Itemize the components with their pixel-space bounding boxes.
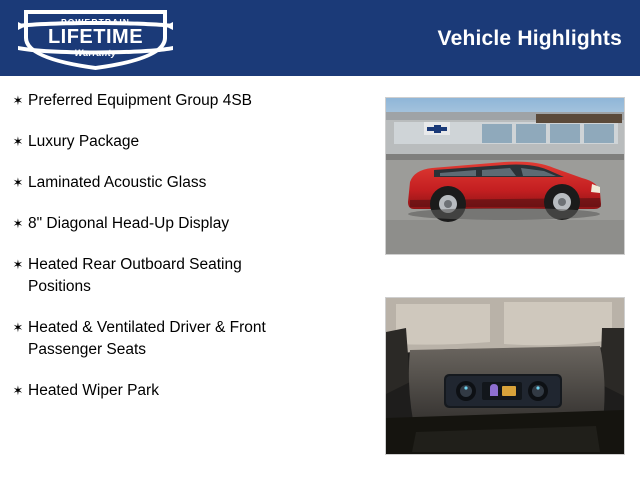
bullet-icon: ✶	[8, 317, 28, 339]
list-item: ✶ Preferred Equipment Group 4SB	[8, 90, 378, 112]
vehicle-features-list: ✶ Preferred Equipment Group 4SB ✶ Luxury…	[8, 90, 378, 421]
vehicle-highlights-page: POWERTRAIN LIFETIME Warranty Vehicle Hig…	[0, 0, 640, 480]
bullet-icon: ✶	[8, 380, 28, 402]
list-item: ✶ Heated Rear Outboard Seating Positions	[8, 254, 378, 298]
interior-photo-image	[386, 298, 624, 454]
page-header: POWERTRAIN LIFETIME Warranty Vehicle Hig…	[0, 0, 640, 76]
feature-label: Luxury Package	[28, 131, 139, 153]
bullet-icon: ✶	[8, 172, 28, 194]
list-item: ✶ Heated Wiper Park	[8, 380, 378, 402]
list-item: ✶ Luxury Package	[8, 131, 378, 153]
exterior-photo-image	[386, 98, 624, 254]
feature-label: Laminated Acoustic Glass	[28, 172, 206, 194]
bullet-icon: ✶	[8, 131, 28, 153]
powertrain-lifetime-warranty-logo: POWERTRAIN LIFETIME Warranty	[18, 4, 173, 73]
feature-label: 8" Diagonal Head-Up Display	[28, 213, 229, 235]
page-title: Vehicle Highlights	[438, 27, 622, 51]
feature-label: Heated & Ventilated Driver & Front Passe…	[28, 317, 320, 361]
list-item: ✶ Laminated Acoustic Glass	[8, 172, 378, 194]
feature-label: Heated Wiper Park	[28, 380, 159, 402]
bullet-icon: ✶	[8, 213, 28, 235]
shield-banner-icon	[18, 4, 173, 73]
feature-label: Preferred Equipment Group 4SB	[28, 90, 252, 112]
feature-label: Heated Rear Outboard Seating Positions	[28, 254, 286, 298]
list-item: ✶ 8" Diagonal Head-Up Display	[8, 213, 378, 235]
interior-photo	[385, 297, 625, 455]
bullet-icon: ✶	[8, 90, 28, 112]
list-item: ✶ Heated & Ventilated Driver & Front Pas…	[8, 317, 378, 361]
exterior-photo	[385, 97, 625, 255]
bullet-icon: ✶	[8, 254, 28, 276]
